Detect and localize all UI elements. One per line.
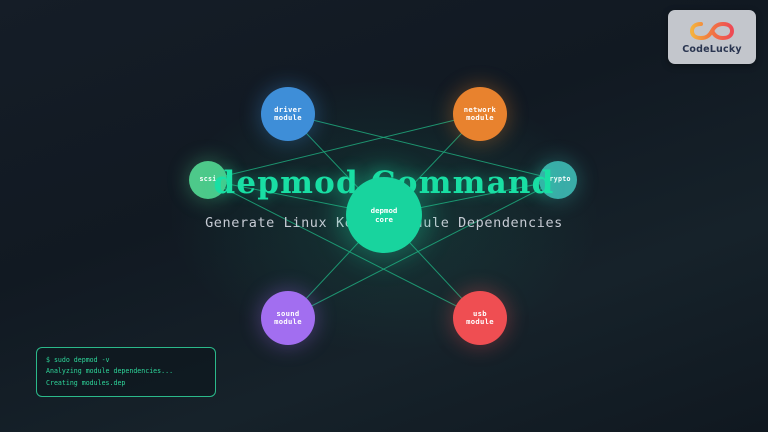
module-node-driver-module[interactable]: drivermodule	[261, 87, 315, 141]
core-node-depmod[interactable]: depmod core	[346, 177, 422, 253]
module-node-label-line2: module	[466, 318, 494, 326]
module-node-label-line2: module	[466, 114, 494, 122]
codelucky-logo-text: CodeLucky	[682, 44, 742, 55]
module-node-label-line2: module	[274, 114, 302, 122]
module-node-network-module[interactable]: networkmodule	[453, 87, 507, 141]
core-node-label-line2: core	[375, 215, 393, 224]
poster-canvas: drivermodulenetworkmodulescsicryptosound…	[0, 0, 768, 432]
module-node-sound-module[interactable]: soundmodule	[261, 291, 315, 345]
module-node-usb-module[interactable]: usbmodule	[453, 291, 507, 345]
module-node-label-line2: module	[274, 318, 302, 326]
terminal-line-analyzing: Analyzing module dependencies...	[46, 366, 215, 377]
infinity-icon	[689, 19, 735, 43]
terminal-box: $ sudo depmod -v Analyzing module depend…	[36, 347, 216, 397]
terminal-line-creating: Creating modules.dep	[46, 378, 215, 389]
codelucky-logo-badge[interactable]: CodeLucky	[668, 10, 756, 64]
terminal-line-command: $ sudo depmod -v	[46, 355, 215, 366]
core-node-label-line1: depmod	[371, 206, 398, 215]
